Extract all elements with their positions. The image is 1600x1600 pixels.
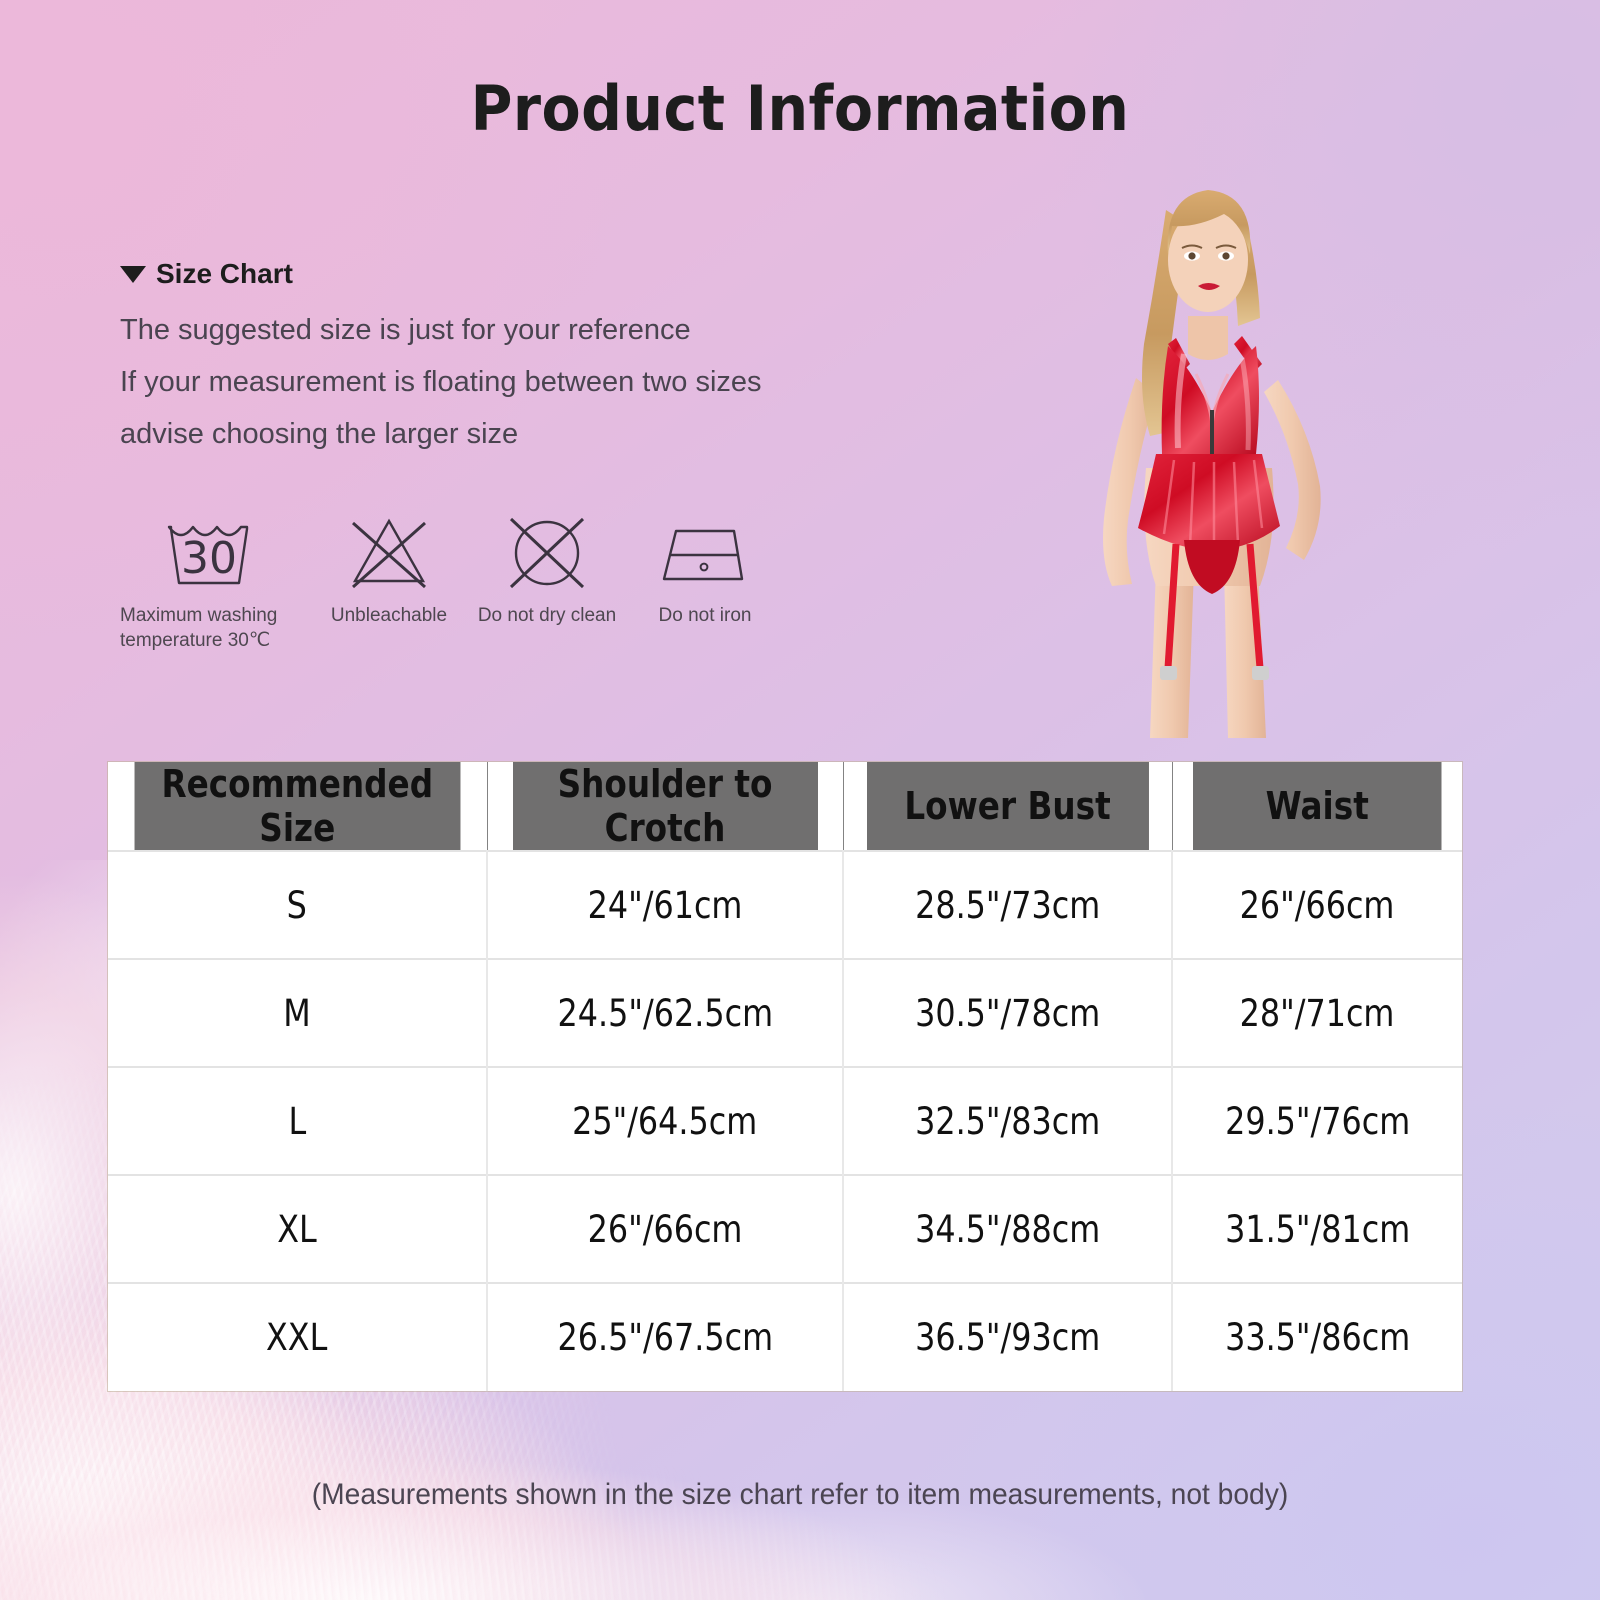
size-chart-note: advise choosing the larger size (120, 410, 880, 460)
cell-size: XL (108, 1175, 487, 1283)
care-symbol-label: Maximum washing temperature 30℃ (120, 604, 310, 653)
do-not-iron-icon (650, 508, 760, 596)
care-symbol-wash: 30 Maximum washing temperature 30℃ (120, 508, 310, 653)
product-model-image (1028, 168, 1388, 738)
cell-waist: 26"/66cm (1172, 851, 1462, 959)
cell-shoulder-to-crotch: 26.5"/67.5cm (487, 1283, 843, 1391)
column-header-waist: Waist (1192, 762, 1441, 851)
table-row: XXL 26.5"/67.5cm 36.5"/93cm 33.5"/86cm (108, 1283, 1462, 1391)
care-symbols-row: 30 Maximum washing temperature 30℃ Unble… (120, 508, 784, 653)
cell-lower-bust: 34.5"/88cm (843, 1175, 1172, 1283)
size-chart-notes: The suggested size is just for your refe… (120, 306, 880, 460)
cell-size: M (108, 959, 487, 1067)
cell-waist: 31.5"/81cm (1172, 1175, 1462, 1283)
care-symbol-label: Do not iron (659, 604, 752, 629)
size-chart-note: The suggested size is just for your refe… (120, 306, 880, 356)
cell-lower-bust: 30.5"/78cm (843, 959, 1172, 1067)
cell-waist: 29.5"/76cm (1172, 1067, 1462, 1175)
cell-shoulder-to-crotch: 24"/61cm (487, 851, 843, 959)
column-header-recommended-size: Recommended Size (135, 762, 461, 851)
care-symbol-bleach: Unbleachable (310, 508, 468, 629)
size-chart-heading-label: Size Chart (156, 258, 293, 290)
cell-size: XXL (108, 1283, 487, 1391)
cell-shoulder-to-crotch: 26"/66cm (487, 1175, 843, 1283)
page-title: Product Information (64, 72, 1536, 145)
care-symbol-label: Unbleachable (331, 604, 447, 629)
measurement-footnote: (Measurements shown in the size chart re… (48, 1478, 1552, 1512)
column-header-shoulder-to-crotch: Shoulder to Crotch (512, 762, 818, 851)
size-chart-note: If your measurement is floating between … (120, 358, 880, 408)
care-symbol-iron: Do not iron (626, 508, 784, 629)
model-illustration (1028, 168, 1388, 738)
do-not-bleach-icon (337, 508, 441, 596)
cell-shoulder-to-crotch: 25"/64.5cm (487, 1067, 843, 1175)
table-row: XL 26"/66cm 34.5"/88cm 31.5"/81cm (108, 1175, 1462, 1283)
care-symbol-label: Do not dry clean (478, 604, 616, 629)
care-symbol-dry-clean: Do not dry clean (468, 508, 626, 629)
cell-lower-bust: 32.5"/83cm (843, 1067, 1172, 1175)
cell-lower-bust: 28.5"/73cm (843, 851, 1172, 959)
size-chart-table: Recommended Size Shoulder to Crotch Lowe… (108, 762, 1462, 1391)
column-header-lower-bust: Lower Bust (866, 762, 1149, 851)
wash-tub-30-icon: 30 (155, 508, 275, 596)
size-chart-heading: Size Chart (120, 258, 880, 290)
cell-lower-bust: 36.5"/93cm (843, 1283, 1172, 1391)
cell-shoulder-to-crotch: 24.5"/62.5cm (487, 959, 843, 1067)
table-row: S 24"/61cm 28.5"/73cm 26"/66cm (108, 851, 1462, 959)
cell-waist: 33.5"/86cm (1172, 1283, 1462, 1391)
table-row: L 25"/64.5cm 32.5"/83cm 29.5"/76cm (108, 1067, 1462, 1175)
cell-waist: 28"/71cm (1172, 959, 1462, 1067)
wash-temperature-value: 30 (181, 533, 237, 584)
cell-size: L (108, 1067, 487, 1175)
cell-size: S (108, 851, 487, 959)
table-header-row: Recommended Size Shoulder to Crotch Lowe… (108, 762, 1462, 851)
do-not-dry-clean-icon (495, 508, 599, 596)
size-chart-section: Size Chart The suggested size is just fo… (120, 258, 880, 460)
triangle-down-icon (120, 266, 146, 283)
table-row: M 24.5"/62.5cm 30.5"/78cm 28"/71cm (108, 959, 1462, 1067)
